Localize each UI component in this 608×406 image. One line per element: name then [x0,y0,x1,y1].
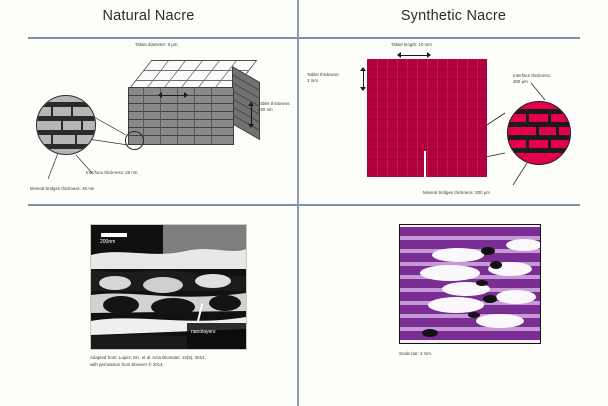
synthetic-block [367,59,487,177]
tablet-length-arrow [397,51,431,59]
scale-bar-label: 200nm [100,239,115,245]
label-synthetic-thickness: Tablet thickness: 1 mm [307,72,355,84]
label-tablet-length: Tablet length: 10 mm [391,42,432,48]
figure-root: Natural Nacre Synthetic Nacre [0,0,608,406]
inset-source-marker [125,131,144,150]
photo-caption: Scale bar: 4 mm. [399,350,559,357]
label-mineral-bridges: Mineral bridges thickness: 46 nm [30,186,94,192]
tablet-thickness-arrow [247,102,255,128]
natural-nacre-schematic: Tablet diameter: 8 µm Tablet thickness: … [0,39,297,204]
label-synthetic-interface: Interface thickness: 300 µm [513,73,565,85]
micrograph-caption: Adapted from: Lopez, M.I. et al. Acta Bi… [90,354,265,369]
synthetic-magnified-inset [507,101,571,165]
label-synthetic-mineral-bridges: Mineral bridges thickness: 200 µm [423,190,490,196]
synthetic-composite-photo [399,224,541,344]
label-tablet-diameter: Tablet diameter: 8 µm [135,42,177,48]
synthetic-nacre-photo-panel: Scale bar: 4 mm. [299,206,608,406]
label-interface-thickness: Interface thickness: 25 nm [86,170,137,176]
natural-nacre-micrograph-panel: 200nm nanolayers Adapted from: Lopez, M.… [0,206,297,406]
panel-title-synthetic: Synthetic Nacre [299,8,608,24]
panel-title-natural: Natural Nacre [0,8,297,24]
synthetic-block-notch [424,151,426,177]
nanolayers-label: nanolayers [191,329,215,335]
synthetic-nacre-schematic: Tablet length: 10 mm Tablet thickness: 1… [299,39,608,204]
label-tablet-thickness: Tablet thickness: 450 nm [258,101,300,113]
synthetic-thickness-arrow [359,67,367,91]
natural-magnified-inset [36,95,96,155]
sem-micrograph: 200nm nanolayers [90,224,247,350]
tablet-diameter-arrow [158,91,188,99]
scale-bar-200nm [101,233,127,237]
